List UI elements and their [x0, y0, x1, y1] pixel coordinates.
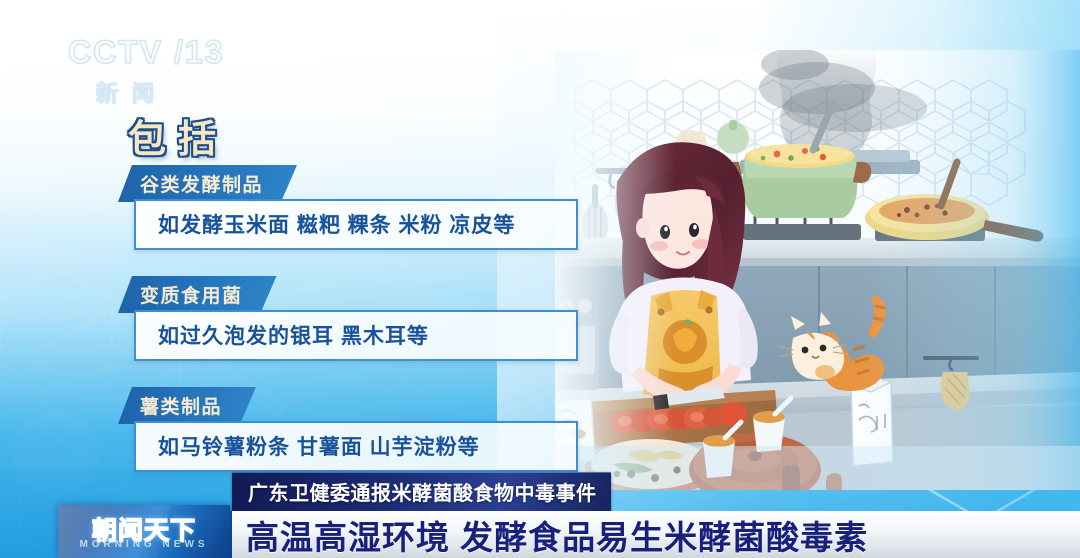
page-title: 包括 [128, 108, 228, 163]
headline-text: 高温高湿环境 发酵食品易生米酵菌酸毒素 [246, 511, 868, 558]
info-block-body: 如马铃薯粉条 甘薯面 山芋淀粉等 [134, 421, 578, 472]
broadcast-frame: CCTV /13 新闻 包括 谷类发酵制品 如发酵玉米面 糍粑 粿条 米粉 凉皮… [0, 0, 1080, 558]
info-block-tag: 变质食用菌 [118, 276, 277, 313]
kicker-banner: 广东卫健委通报米酵菌酸食物中毒事件 [232, 472, 611, 511]
info-block-list: 谷类发酵制品 如发酵玉米面 糍粑 粿条 米粉 凉皮等 变质食用菌 如过久泡发的银… [118, 165, 578, 498]
watermark-channel-number: 13 [185, 34, 225, 70]
program-logo-en: MORNING NEWS [79, 539, 208, 550]
info-block: 薯类制品 如马铃薯粉条 甘薯面 山芋淀粉等 [118, 387, 578, 472]
kitchen-cooking-illustration [555, 50, 1080, 490]
watermark-cctv13: CCTV /13 [68, 36, 248, 68]
kicker-text: 广东卫健委通报米酵菌酸食物中毒事件 [248, 477, 597, 506]
info-block-detail: 如发酵玉米面 糍粑 粿条 米粉 凉皮等 [158, 209, 560, 239]
lower-third: 朝闻天下 MORNING NEWS 广东卫健委通报米酵菌酸食物中毒事件 高温高湿… [0, 470, 1080, 558]
watermark-subtitle: 新闻 [96, 76, 248, 108]
info-block: 谷类发酵制品 如发酵玉米面 糍粑 粿条 米粉 凉皮等 [118, 165, 578, 250]
info-block-body: 如过久泡发的银耳 黑木耳等 [134, 310, 578, 361]
watermark-cctv-text: CCTV [68, 34, 163, 70]
info-block-tag: 谷类发酵制品 [118, 165, 297, 202]
info-block-tag: 薯类制品 [118, 387, 256, 424]
channel-watermark: CCTV /13 新闻 [68, 36, 248, 116]
info-block: 变质食用菌 如过久泡发的银耳 黑木耳等 [118, 276, 578, 361]
info-block-body: 如发酵玉米面 糍粑 粿条 米粉 凉皮等 [134, 199, 578, 250]
info-block-detail: 如过久泡发的银耳 黑木耳等 [158, 320, 560, 350]
info-block-detail: 如马铃薯粉条 甘薯面 山芋淀粉等 [158, 431, 560, 461]
program-logo: 朝闻天下 MORNING NEWS [58, 505, 230, 558]
headline-bar: 高温高湿环境 发酵食品易生米酵菌酸毒素 [232, 511, 1080, 558]
